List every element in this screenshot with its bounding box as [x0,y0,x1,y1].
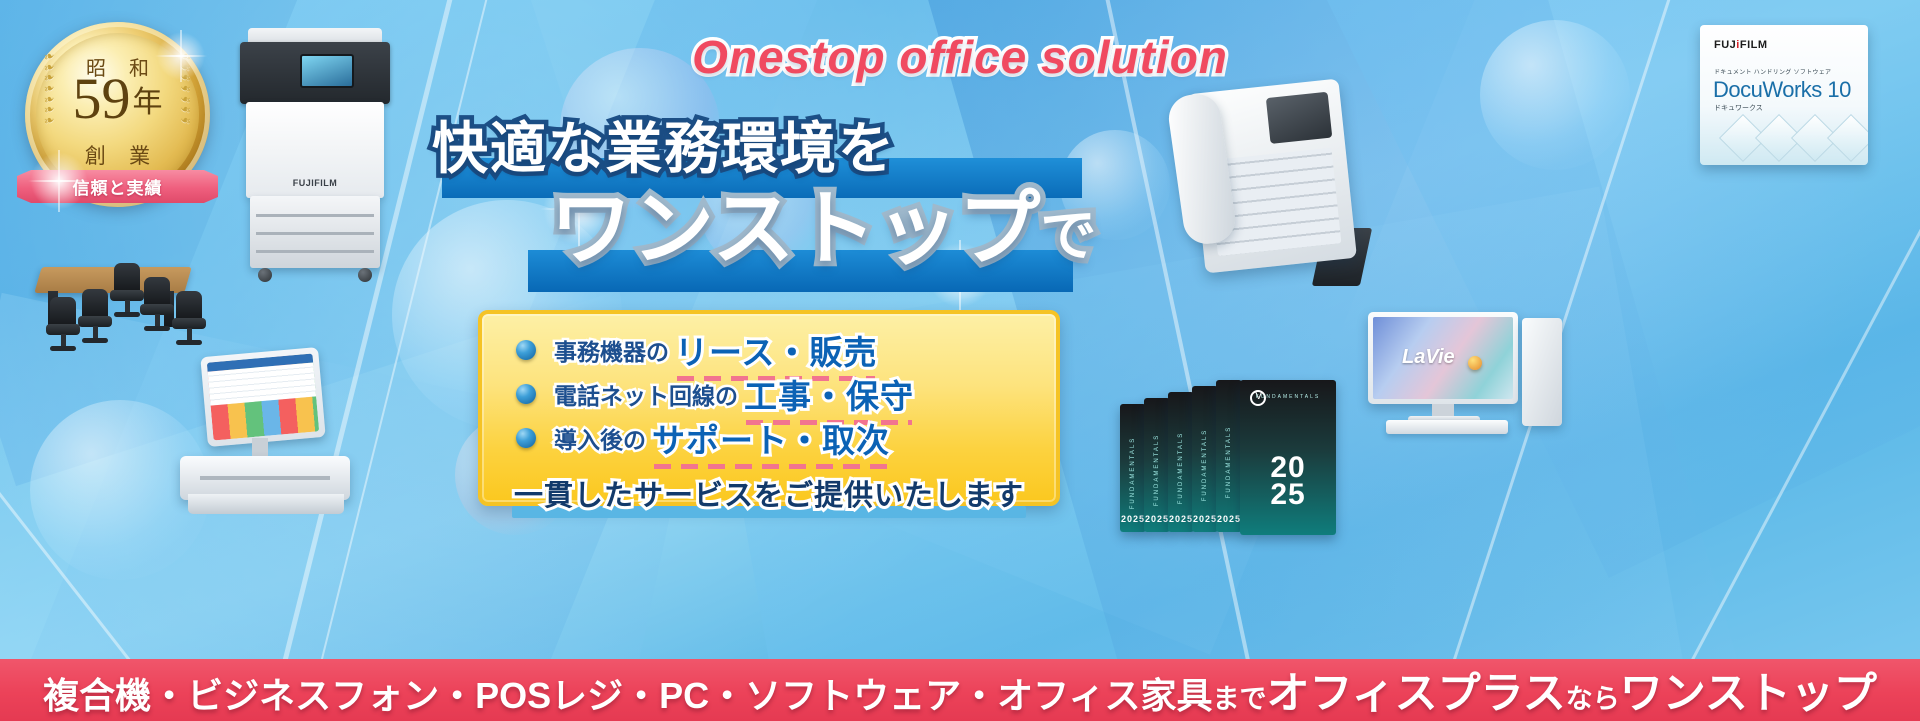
pc-and-monitor-image: LaVie [1368,312,1568,442]
headline-line1: 快適な業務環境を [432,120,896,179]
offer-item-prefix: 電話ネット回線の [554,377,738,411]
headline-line1-wrapper: 快適な業務環境を [432,120,896,179]
footer-banner-text: 複合機・ビジネスフォン・POSレジ・PC・ソフトウェア・オフィス家具までオフィス… [43,659,1877,721]
docuworks-kana: ドキュワークス [1714,103,1763,113]
footer-banner: 複合機・ビジネスフォン・POSレジ・PC・ソフトウェア・オフィス家具までオフィス… [0,659,1920,721]
services-offer-box: 事務機器の リース・販売 電話ネット回線の 工事・保守 導入後の サポート・取次… [478,310,1060,506]
pos-register-image [160,352,360,522]
offer-footer-text: 一貫したサービスをご提供いたします [514,480,1024,512]
offer-item-prefix: 導入後の [554,421,646,455]
headline-line2: ワンストップで [550,188,1096,272]
footer-part4: なら [1566,684,1620,714]
badge-ribbon: 信頼と実績 [17,170,218,203]
mfp-brand-label: FUJIFILM [246,178,384,188]
offer-item-highlight: サポート・取次 [652,414,890,462]
software-boxes-image: FUNDAMENTALS2025 FUNDAMENTALS2025 FUNDAM… [1120,380,1350,540]
offer-item: 事務機器の リース・販売 [482,328,1056,372]
office-furniture-image [22,245,222,360]
offer-item: 電話ネット回線の 工事・保守 [482,372,1056,416]
footer-part3: オフィスプラス [1266,670,1565,718]
headline-english-text: Onestop office solution [692,30,1228,84]
bullet-dot-icon [516,340,536,360]
headline-line2-wrapper: ワンストップで [550,188,1096,272]
offer-item: 導入後の サポート・取次 [482,416,1056,460]
badge-year-unit: 年 [133,86,163,119]
bullet-dot-icon [516,384,536,404]
bullet-dot-icon [516,428,536,448]
footer-part2: まで [1212,684,1266,714]
headline-line2-main: ワンストップ [550,184,1040,275]
promotional-banner: ❧❧❧❧❧❧❧ ❧❧❧❧❧❧❧ 昭 和 59年 創 業 信頼と実績 FUJIFI… [0,0,1920,721]
offer-item-highlight: リース・販売 [675,326,877,374]
offer-item-prefix: 事務機器の [554,333,669,367]
headline-line2-suffix: で [1040,204,1096,267]
badge-ribbon-label: 信頼と実績 [73,174,163,199]
offer-footer: 一貫したサービスをご提供いたします [482,472,1056,514]
footer-part5: ワンストップ [1620,670,1877,718]
offer-item-highlight: 工事・保守 [744,370,914,418]
business-phone-image [1168,52,1383,297]
monitor-brand-label: LaVie [1402,346,1455,369]
headline-english: Onestop office solution [0,30,1920,84]
footer-part1: 複合機・ビジネスフォン・POSレジ・PC・ソフトウェア・オフィス家具 [43,675,1212,716]
background-stripe [1596,220,1920,721]
badge-founded-label: 創 業 [25,140,210,170]
